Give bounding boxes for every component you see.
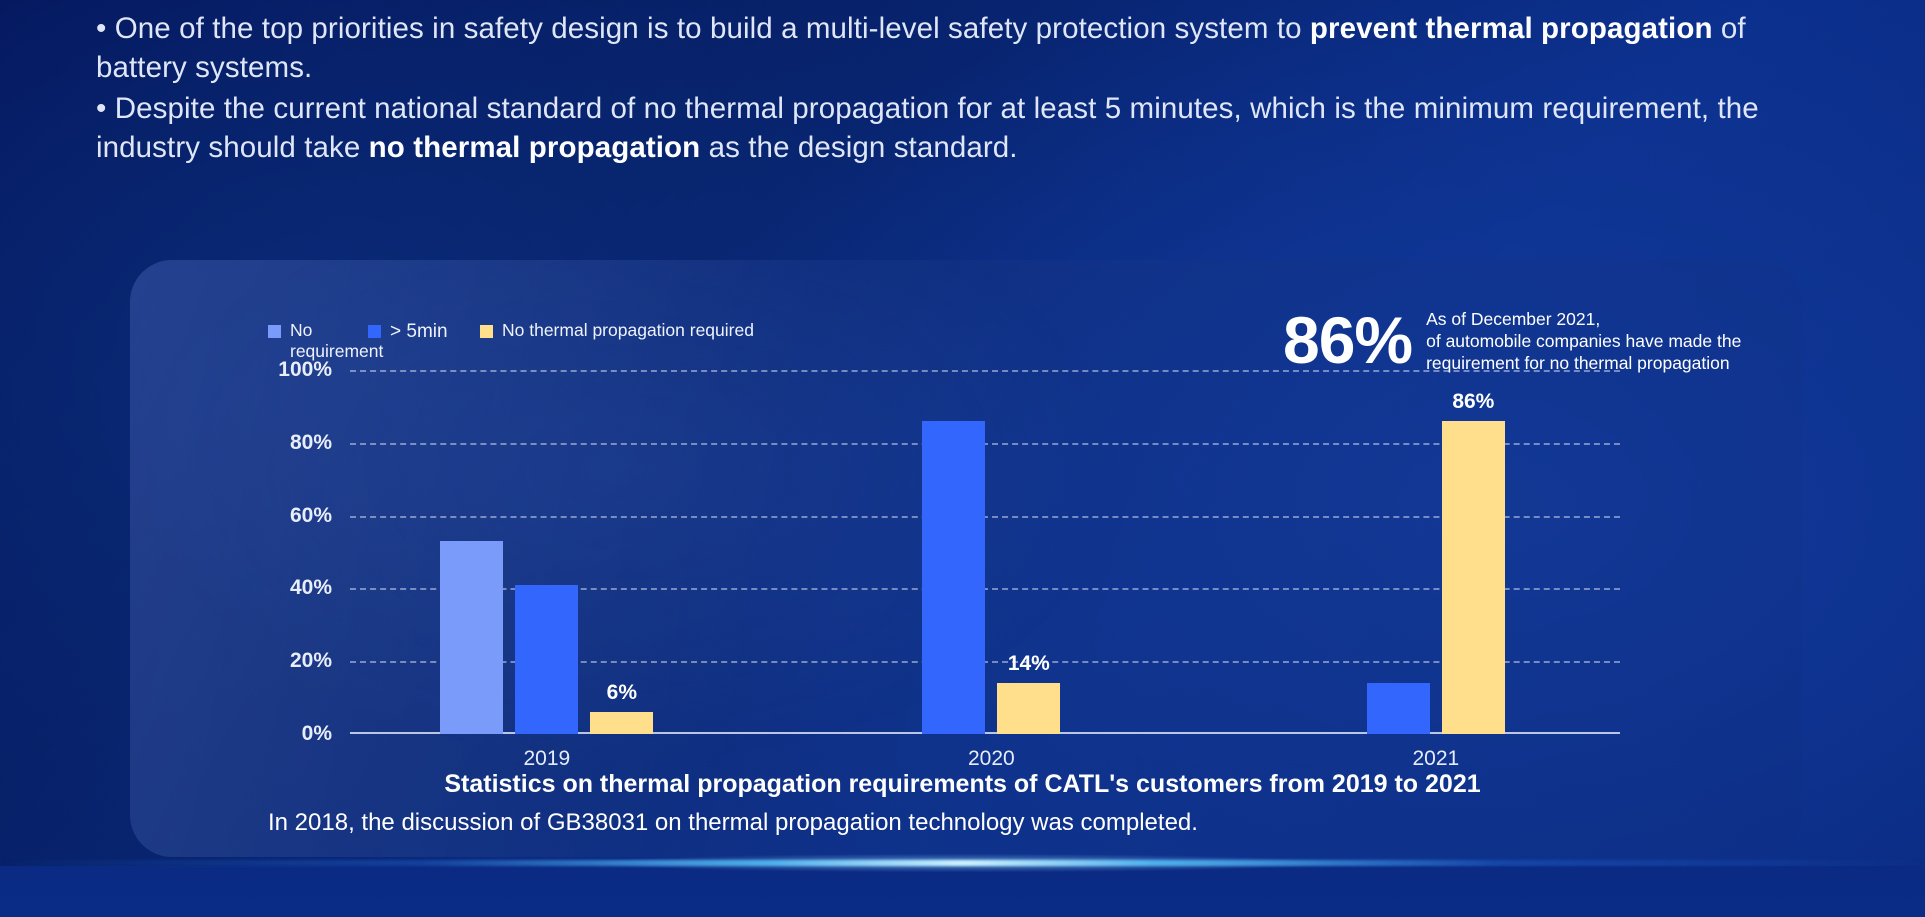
bar-2021-series-1[interactable] <box>1367 683 1430 734</box>
bar-value-label-2021-2: 86% <box>1452 390 1494 414</box>
y-axis-tick-20: 20% <box>290 649 332 673</box>
bar-2019-series-1[interactable] <box>515 585 578 734</box>
chart-title: Statistics on thermal propagation requir… <box>0 770 1925 799</box>
bullet-marker: • <box>96 12 115 45</box>
legend-item-0[interactable]: No requirement <box>268 320 368 363</box>
legend-swatch-icon-2 <box>480 325 493 338</box>
y-axis-tick-40: 40% <box>290 576 332 600</box>
bullet-marker: • <box>96 92 115 125</box>
y-axis-tick-80: 80% <box>290 431 332 455</box>
callout-description: As of December 2021, of automobile compa… <box>1426 305 1741 374</box>
y-axis-tick-60: 60% <box>290 504 332 528</box>
bullet-list: • One of the top priorities in safety de… <box>96 10 1796 170</box>
legend-swatch-icon-0 <box>268 325 281 338</box>
bar-group-2020: 14%2020 <box>922 370 1060 734</box>
bullet-text-1-2: as the design standard. <box>700 131 1017 164</box>
callout-block: 86% As of December 2021, of automobile c… <box>1283 305 1741 374</box>
bullet-text-0-0: One of the top priorities in safety desi… <box>115 12 1310 45</box>
slide-root: • One of the top priorities in safety de… <box>0 0 1925 917</box>
y-axis-tick-0: 0% <box>302 722 332 746</box>
bar-value-label-2019-2: 6% <box>607 681 637 705</box>
x-axis-tick-2020: 2020 <box>968 747 1015 771</box>
legend-label-1: > 5min <box>390 320 448 343</box>
x-axis-tick-2021: 2021 <box>1412 747 1459 771</box>
footnote-text: In 2018, the discussion of GB38031 on th… <box>268 809 1198 837</box>
bar-value-label-2020-2: 14% <box>1008 652 1050 676</box>
callout-percentage: 86% <box>1283 307 1412 373</box>
bar-chart-plot: 0%20%40%60%80%100%6%201914%202086%2021 <box>350 370 1620 734</box>
chart-legend: No requirement> 5minNo thermal propagati… <box>268 320 754 363</box>
legend-label-2: No thermal propagation required <box>502 320 754 341</box>
bullet-item-0: • One of the top priorities in safety de… <box>96 10 1796 88</box>
bar-2019-series-2[interactable]: 6% <box>590 712 653 734</box>
accent-divider <box>0 860 1925 866</box>
bar-2020-series-1[interactable] <box>922 421 985 734</box>
bullet-emphasis-0-1: prevent thermal propagation <box>1310 12 1713 45</box>
bar-2020-series-2[interactable]: 14% <box>997 683 1060 734</box>
bar-group-2019: 6%2019 <box>440 370 653 734</box>
bar-2019-series-0[interactable] <box>440 541 503 734</box>
x-axis-tick-2019: 2019 <box>523 747 570 771</box>
bullet-emphasis-1-1: no thermal propagation <box>369 131 701 164</box>
legend-swatch-icon-1 <box>368 325 381 338</box>
legend-item-1[interactable]: > 5min <box>368 320 480 343</box>
bullet-item-1: • Despite the current national standard … <box>96 90 1796 168</box>
bar-group-2021: 86%2021 <box>1367 370 1505 734</box>
legend-item-2[interactable]: No thermal propagation required <box>480 320 754 341</box>
bar-2021-series-2[interactable]: 86% <box>1442 421 1505 734</box>
